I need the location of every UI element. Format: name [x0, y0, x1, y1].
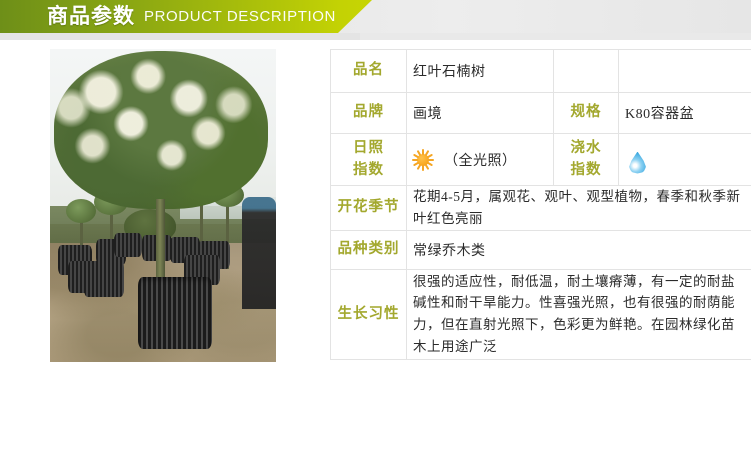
photo-main-container-pot — [138, 277, 212, 349]
spec-value-specification: K80容器盆 — [619, 93, 751, 134]
spec-label-blooming-season: 开花季节 — [331, 186, 407, 231]
spec-label-brand: 品牌 — [331, 93, 407, 134]
spec-label-sunlight-index: 日照 指数 — [331, 134, 407, 186]
photo-container-pot — [114, 233, 142, 257]
table-row: 品牌 画境 规格 K80容器盆 — [331, 93, 751, 134]
product-photo — [50, 49, 276, 362]
photo-sapling-canopy — [66, 199, 96, 223]
spec-label-watering-index: 浇水 指数 — [554, 134, 619, 186]
spec-label-specification: 规格 — [554, 93, 619, 134]
spec-value-variety-type: 常绿乔木类 — [407, 230, 751, 269]
table-row: 品名 红叶石楠树 — [331, 50, 751, 93]
spec-value-sunlight-index: （全光照） — [407, 134, 554, 186]
photo-container-pot — [84, 261, 124, 297]
spec-label-product-name: 品名 — [331, 50, 407, 93]
product-description-page: 商品参数 PRODUCT DESCRIPTION — [0, 0, 751, 449]
spec-label-sunlight-line2: 指数 — [337, 160, 400, 181]
table-row: 日照 指数 — [331, 134, 751, 186]
spec-value-brand: 画境 — [407, 93, 554, 134]
spec-value-watering-index — [619, 134, 751, 186]
spec-value-growth-habit: 很强的适应性，耐低温，耐土壤瘠薄，有一定的耐盐碱性和耐干旱能力。性喜强光照，也有… — [407, 269, 751, 359]
banner-underline-strip-accent — [0, 33, 360, 40]
section-header-banner: 商品参数 PRODUCT DESCRIPTION — [0, 0, 751, 33]
spec-label-sunlight-line1: 日照 — [337, 138, 400, 159]
spec-value-product-name: 红叶石楠树 — [407, 50, 554, 93]
spec-label-watering-line1: 浇水 — [560, 138, 612, 159]
table-row: 生长习性 很强的适应性，耐低温，耐土壤瘠薄，有一定的耐盐碱性和耐干旱能力。性喜强… — [331, 269, 751, 359]
spec-label-watering-line2: 指数 — [560, 160, 612, 181]
sunlight-value-group: （全光照） — [413, 150, 547, 170]
spec-label-empty-1 — [554, 50, 619, 93]
banner-title-group: 商品参数 PRODUCT DESCRIPTION — [47, 0, 336, 33]
spec-value-blooming-season: 花期4-5月，属观花、观叶、观型植物，春季和秋季新叶红色亮丽 — [407, 186, 751, 231]
photo-worker — [242, 197, 276, 309]
spec-label-variety-type: 品种类别 — [331, 230, 407, 269]
section-footer-banner: 实物拍摄 \ Physical shooting 2 . Physical sh… — [0, 381, 751, 443]
spec-label-growth-habit: 生长习性 — [331, 269, 407, 359]
sun-icon — [413, 150, 433, 170]
water-drop-body — [629, 152, 646, 174]
table-row: 开花季节 花期4-5月，属观花、观叶、观型植物，春季和秋季新叶红色亮丽 — [331, 186, 751, 231]
page-title-en: PRODUCT DESCRIPTION — [144, 9, 336, 24]
photo-tree-canopy — [54, 51, 268, 209]
spec-value-sunlight-text: （全光照） — [444, 150, 517, 170]
page-title-cn: 商品参数 — [47, 6, 135, 27]
spec-value-empty-1 — [619, 50, 751, 93]
table-row: 品种类别 常绿乔木类 — [331, 230, 751, 269]
specification-table: 品名 红叶石楠树 品牌 画境 规格 K80容器盆 日照 指数 — [330, 49, 751, 360]
